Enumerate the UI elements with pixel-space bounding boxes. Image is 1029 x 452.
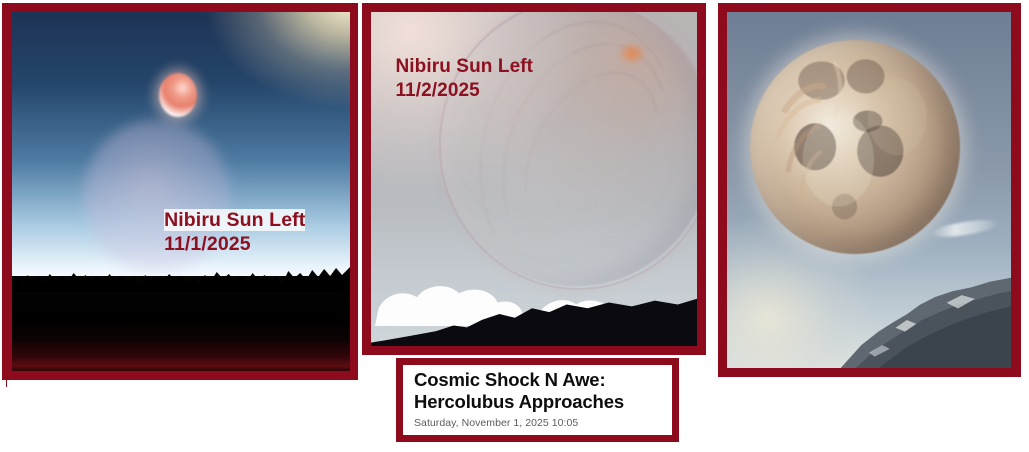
photo-2-caption-line1: Nibiru Sun Left <box>395 56 533 77</box>
photo-2-image: Nibiru Sun Left11/2/2025 <box>371 12 697 346</box>
photo-2-caption: Nibiru Sun Left11/2/2025 <box>395 55 533 101</box>
photo-panel-2[interactable]: Nibiru Sun Left11/2/2025 <box>362 3 706 355</box>
nibiru-orb-icon <box>159 73 197 117</box>
photo-1-caption: Nibiru Sun Left11/1/2025 <box>164 209 305 257</box>
hercolubus-sphere-detailed-icon <box>750 40 960 254</box>
mountain-ridge-3 <box>727 272 1011 368</box>
caption-title: Cosmic Shock N Awe: Hercolubus Approache… <box>414 369 672 413</box>
photo-2-caption-line2: 11/2/2025 <box>395 80 479 101</box>
collage-stage: Nibiru Sun Left11/1/2025 <box>0 0 1029 452</box>
caption-box[interactable]: Cosmic Shock N Awe: Hercolubus Approache… <box>396 358 679 442</box>
photo-1-caption-line1: Nibiru Sun Left <box>164 209 305 231</box>
treeline-silhouette <box>12 276 350 371</box>
photo-panel-3[interactable] <box>718 3 1021 377</box>
photo-panel-1[interactable]: Nibiru Sun Left11/1/2025 <box>2 3 358 380</box>
photo-1-caption-line2: 11/1/2025 <box>164 233 251 255</box>
photo-3-image <box>727 12 1011 368</box>
mountain-ridge-2 <box>371 293 697 346</box>
left-vertical-rule <box>6 292 7 387</box>
caption-date: Saturday, November 1, 2025 10:05 <box>414 417 672 429</box>
photo-1-image: Nibiru Sun Left11/1/2025 <box>12 12 350 371</box>
